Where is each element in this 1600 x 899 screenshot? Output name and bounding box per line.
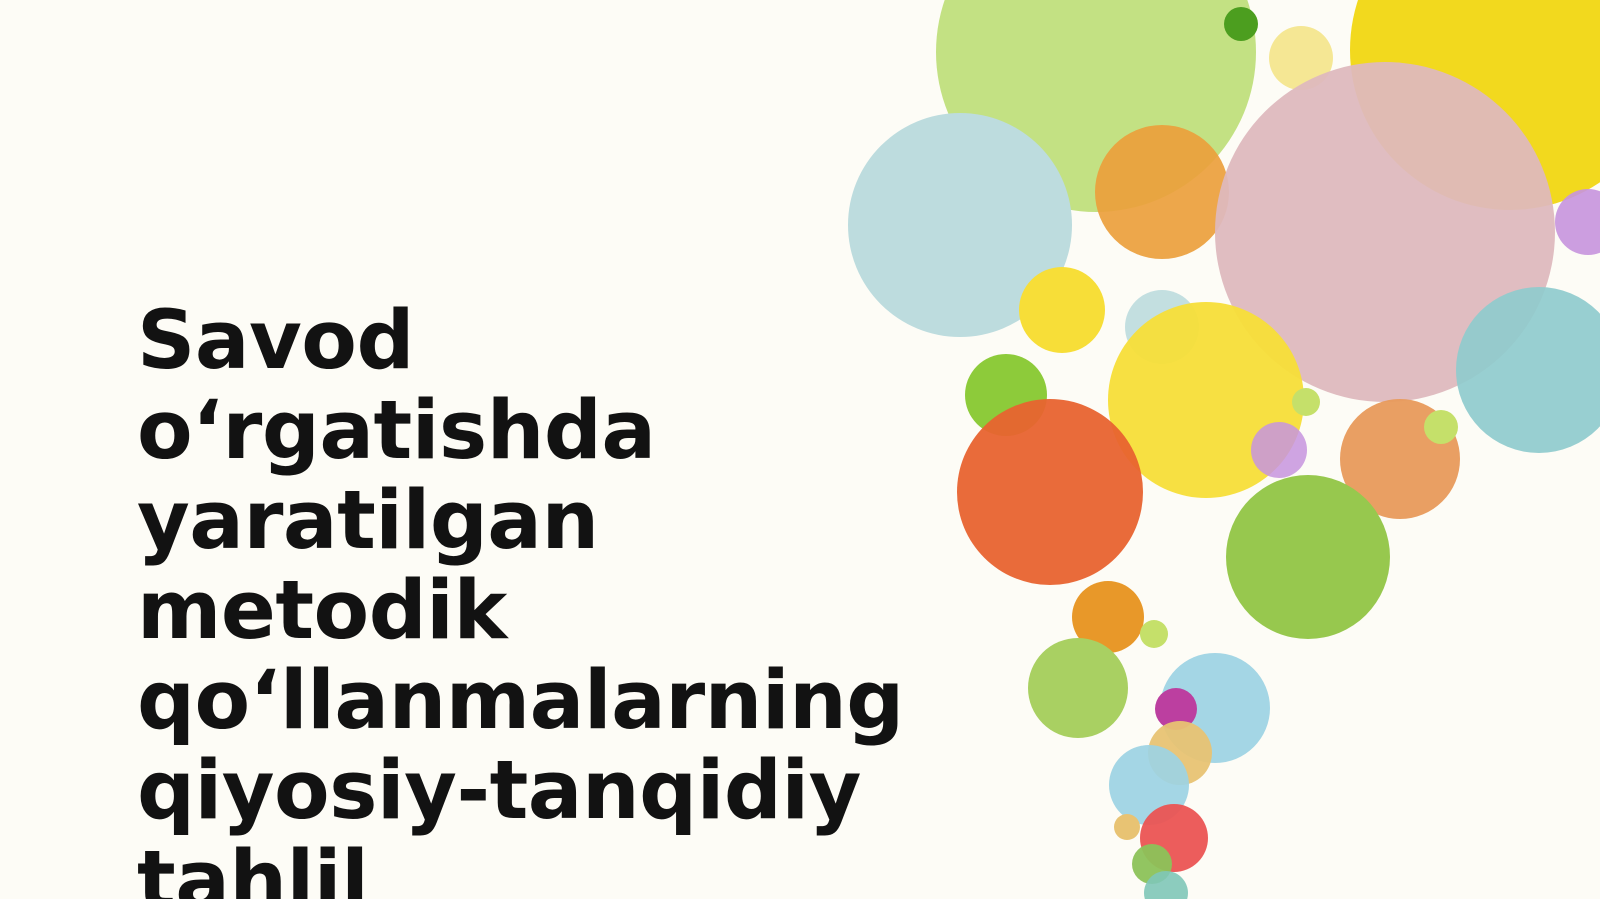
title-block: Savod o‘rgatishda yaratilgan metodik qo‘… (137, 296, 927, 899)
bubble-leaf-green-large (1226, 475, 1390, 639)
page-title: Savod o‘rgatishda yaratilgan metodik qo‘… (137, 296, 927, 899)
bubble-lavender-small (1251, 422, 1307, 478)
bubble-red-small (1140, 804, 1208, 872)
bubble-lavender-right-edge (1555, 189, 1600, 255)
bubble-soft-green-medium (1028, 638, 1128, 738)
bubble-mint-tiny (1144, 871, 1188, 899)
bubble-green-tiny (1132, 844, 1172, 884)
bubble-dark-green-dot (1224, 7, 1258, 41)
slide-canvas: Savod o‘rgatishda yaratilgan metodik qo‘… (0, 0, 1600, 899)
bubble-dusty-pink-large (1215, 62, 1555, 402)
bubble-group (848, 0, 1600, 899)
bubble-amber-medium (1072, 581, 1144, 653)
bubble-light-green-large (936, 0, 1256, 212)
bubble-yellow-green-tiny-3 (1140, 620, 1168, 648)
bubble-grass-green-small (965, 354, 1047, 436)
bubble-sky-blue-medium (1160, 653, 1270, 763)
bubble-pale-blue-small (1125, 290, 1199, 364)
bubble-orange-medium (1095, 125, 1229, 259)
bubble-lemon-yellow-small (1019, 267, 1105, 353)
bubble-orange-red-large (957, 399, 1143, 585)
bubble-gold-tiny (1114, 814, 1140, 840)
bubble-yellow-green-tiny-2 (1424, 410, 1458, 444)
bubble-lemon-yellow-large (1108, 302, 1304, 498)
bubble-pale-yellow-small (1269, 26, 1333, 90)
bubble-teal-right (1456, 287, 1600, 453)
bubble-yellow-green-tiny-1 (1292, 388, 1320, 416)
bubble-bright-yellow-large (1350, 0, 1600, 210)
bubble-gold-small (1148, 721, 1212, 785)
bubble-sky-blue-small (1109, 745, 1189, 825)
bubble-magenta-dot (1155, 688, 1197, 730)
bubble-salmon-orange-medium (1340, 399, 1460, 519)
